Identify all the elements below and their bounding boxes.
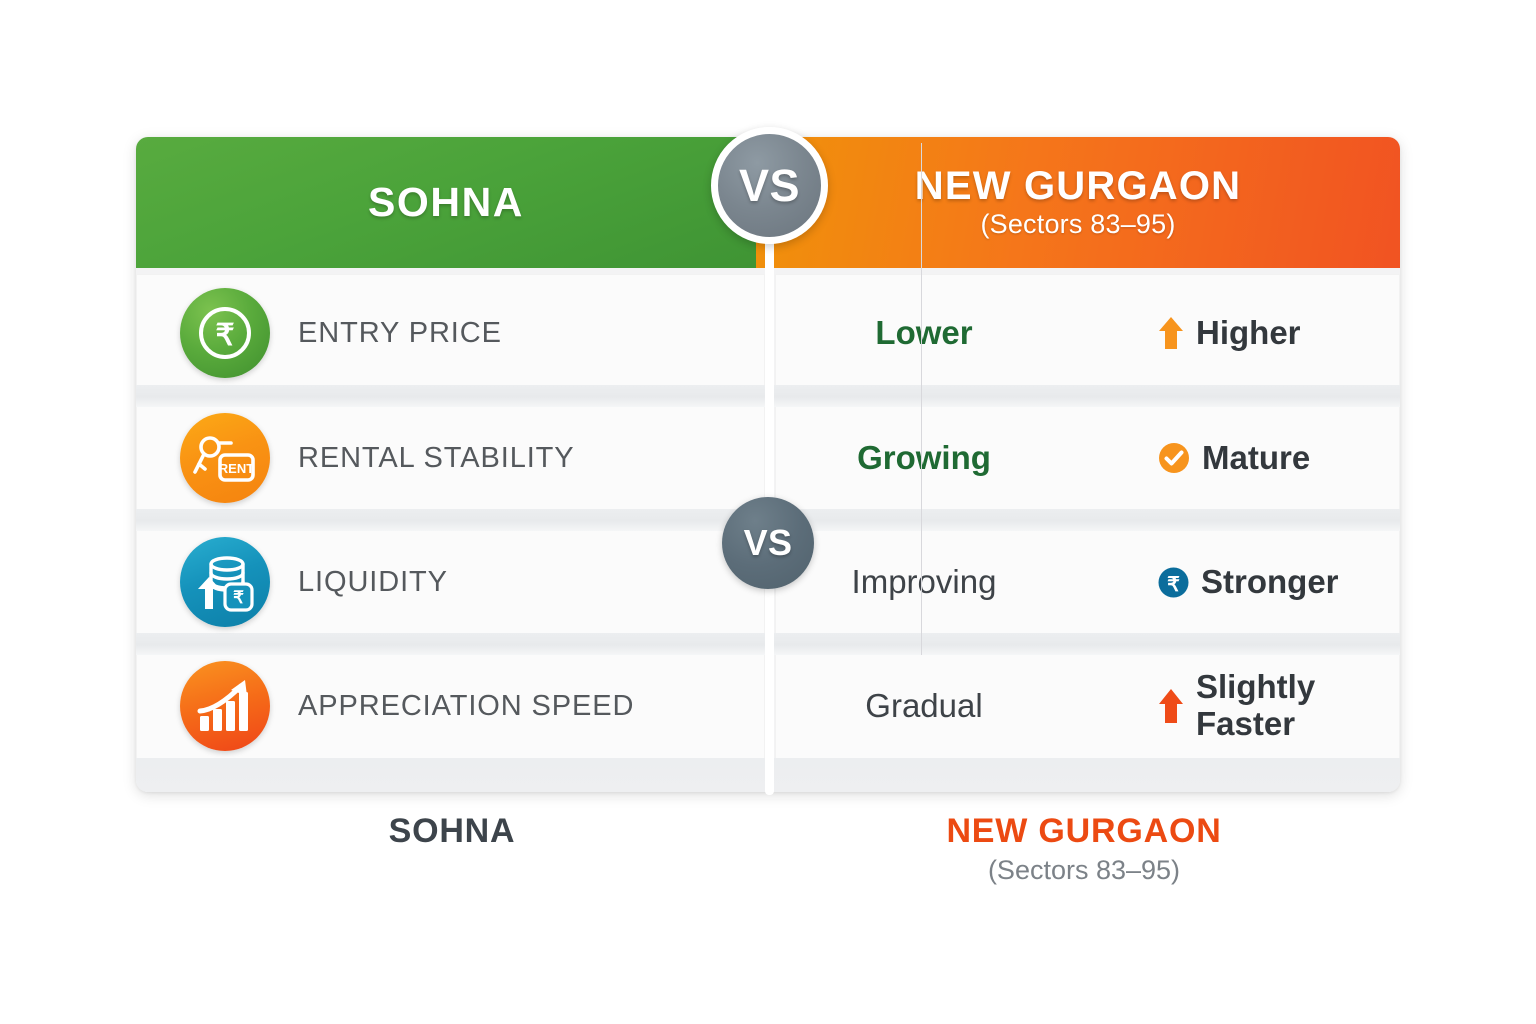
row-label: APPRECIATION SPEED <box>298 690 634 723</box>
values-column-divider <box>921 143 922 655</box>
sohna-value-cell: Growing <box>791 406 1057 510</box>
up-arrow-icon <box>1158 316 1184 350</box>
vs-badge-large-label: VS <box>739 160 800 212</box>
header-gurgaon-title: NEW GURGAON <box>915 165 1242 207</box>
sohna-value: Lower <box>875 315 972 352</box>
sohna-value-cell: Gradual <box>791 654 1057 758</box>
rupee-circle-icon: ₹ <box>1158 567 1189 598</box>
vs-badge-small: VS <box>722 497 814 589</box>
rent-key-tag-icon: RENT <box>180 413 270 503</box>
header-new-gurgaon: NEW GURGAON (Sectors 83–95) <box>756 137 1400 268</box>
svg-text:₹: ₹ <box>1167 574 1180 596</box>
vs-divider-stem <box>765 170 774 795</box>
gurgaon-value: Higher <box>1196 315 1301 352</box>
gurgaon-value: Mature <box>1202 440 1310 477</box>
row-label: RENTAL STABILITY <box>298 442 575 475</box>
sohna-value-cell: Lower <box>791 281 1057 385</box>
footer-sohna: SOHNA <box>136 812 768 932</box>
sohna-value-cell: Improving <box>791 530 1057 634</box>
svg-text:₹: ₹ <box>215 319 234 352</box>
row-label: LIQUIDITY <box>298 566 448 599</box>
gurgaon-value-cell: Higher <box>1058 281 1400 385</box>
vs-badge-small-label: VS <box>744 522 793 564</box>
rupee-coin-icon: ₹ <box>180 288 270 378</box>
sohna-value: Improving <box>852 564 997 601</box>
footer-gurgaon-title: NEW GURGAON <box>768 812 1400 851</box>
row-label-cell: RENT RENTAL STABILITY <box>180 406 575 510</box>
gurgaon-value-cell: Slightly Faster <box>1058 654 1400 758</box>
header-sohna-title: SOHNA <box>368 181 524 224</box>
row-label-cell: ₹ LIQUIDITY <box>180 530 448 634</box>
gurgaon-value: Slightly Faster <box>1196 669 1315 743</box>
footer-gurgaon-subtitle: (Sectors 83–95) <box>768 855 1400 886</box>
row-label-cell: ₹ ENTRY PRICE <box>180 281 502 385</box>
svg-text:RENT: RENT <box>219 461 254 476</box>
infographic-canvas: SOHNA NEW GURGAON (Sectors 83–95) <box>0 0 1536 1024</box>
gurgaon-value-cell: Mature <box>1058 406 1400 510</box>
vs-badge-large: VS <box>711 127 828 244</box>
sohna-value: Gradual <box>865 688 982 725</box>
header-gurgaon-subtitle: (Sectors 83–95) <box>980 209 1175 240</box>
header-sohna: SOHNA <box>136 137 756 268</box>
footer-sohna-title: SOHNA <box>136 812 768 851</box>
svg-text:₹: ₹ <box>233 588 244 607</box>
gurgaon-value-cell: ₹ Stronger <box>1058 530 1400 634</box>
coin-stack-rupee-icon: ₹ <box>180 537 270 627</box>
up-arrow-icon <box>1158 688 1184 724</box>
footer-new-gurgaon: NEW GURGAON (Sectors 83–95) <box>768 812 1400 932</box>
gurgaon-value: Stronger <box>1201 564 1339 601</box>
growth-chart-arrow-icon <box>180 661 270 751</box>
row-label: ENTRY PRICE <box>298 317 502 350</box>
check-circle-icon <box>1158 442 1190 474</box>
sohna-value: Growing <box>857 440 991 477</box>
row-label-cell: APPRECIATION SPEED <box>180 654 634 758</box>
footer-legend: SOHNA NEW GURGAON (Sectors 83–95) <box>136 812 1400 932</box>
